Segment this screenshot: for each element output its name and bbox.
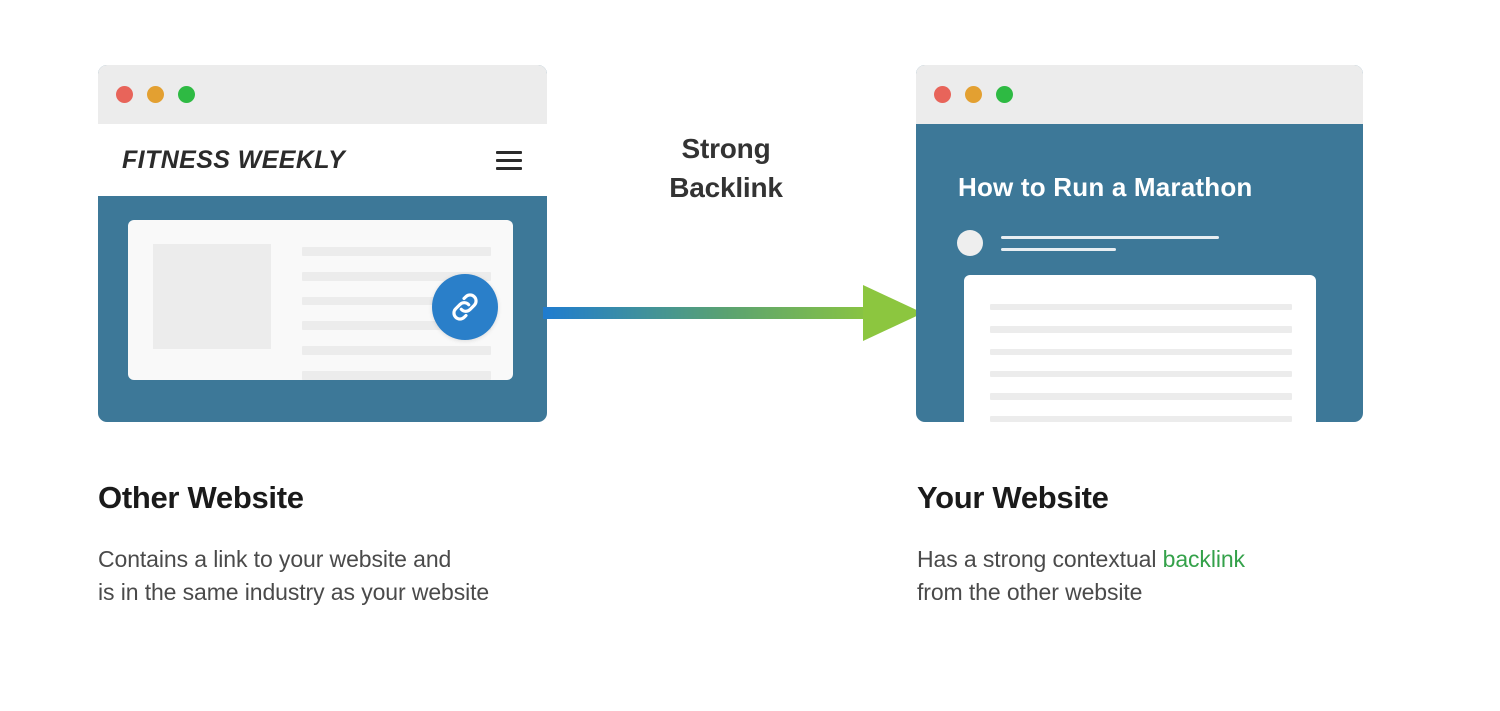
hamburger-icon[interactable] [496,151,522,170]
caption-other-website: Other Website Contains a link to your we… [98,480,489,610]
image-placeholder [153,244,271,349]
caption-text-line2: from the other website [917,576,1245,609]
backlink-highlight: backlink [1163,546,1245,572]
hamburger-bar [496,159,522,162]
titlebar [916,65,1363,124]
text-line [990,326,1292,332]
caption-text: Contains a link to your website and is i… [98,543,489,610]
text-line [302,346,491,355]
site-logo: FITNESS WEEKLY [122,146,345,175]
text-line [990,416,1292,422]
site-header: FITNESS WEEKLY [98,124,547,196]
link-icon [447,289,483,325]
text-line [990,304,1292,310]
close-button-dot[interactable] [934,86,951,103]
hamburger-bar [496,151,522,154]
link-icon-badge[interactable] [432,274,498,340]
text-line [990,393,1292,399]
caption-text-prefix: Has a strong contextual [917,546,1163,572]
caption-title: Other Website [98,480,489,516]
byline-lines [1001,236,1219,251]
post-title: How to Run a Marathon [958,172,1253,203]
caption-text-line2: is in the same industry as your website [98,576,489,609]
author-avatar [957,230,983,256]
arrow-shaft [543,307,876,319]
text-line [990,349,1292,355]
text-line [302,247,491,256]
backlink-arrow [543,285,923,341]
close-button-dot[interactable] [116,86,133,103]
minimize-button-dot[interactable] [965,86,982,103]
byline-line [1001,248,1116,251]
diagram-canvas: FITNESS WEEKLY [0,0,1500,711]
titlebar [98,65,547,124]
caption-title: Your Website [917,480,1245,516]
site-body: How to Run a Marathon [916,124,1363,422]
byline-line [1001,236,1219,239]
maximize-button-dot[interactable] [996,86,1013,103]
arrow-head [863,285,923,341]
post-content-card [964,275,1316,422]
hamburger-bar [496,167,522,170]
text-line [990,371,1292,377]
text-line [302,371,491,380]
your-website-browser-window: How to Run a Marathon [916,65,1363,422]
connector-label-line2: Backlink [586,169,866,208]
byline [957,230,1219,256]
minimize-button-dot[interactable] [147,86,164,103]
caption-text-line1: Has a strong contextual backlink [917,543,1245,576]
caption-your-website: Your Website Has a strong contextual bac… [917,480,1245,610]
caption-text: Has a strong contextual backlink from th… [917,543,1245,610]
connector-label: Strong Backlink [586,130,866,207]
other-website-browser-window: FITNESS WEEKLY [98,65,547,422]
connector-label-line1: Strong [586,130,866,169]
caption-text-line1: Contains a link to your website and [98,543,489,576]
maximize-button-dot[interactable] [178,86,195,103]
